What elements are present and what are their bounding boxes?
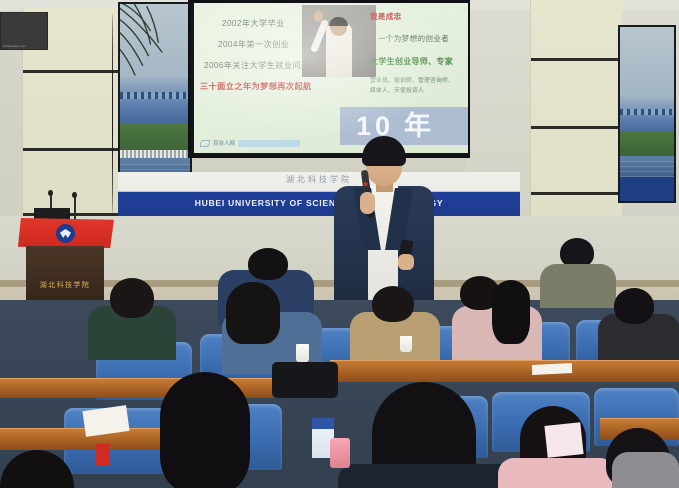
red-booklet <box>96 444 110 466</box>
paper-cup <box>400 336 412 352</box>
notebook-page <box>532 363 572 375</box>
presentation-slide: 2002年大学毕业 2004年第一次创业 2006年关注大学生就业问题 三十面立… <box>194 3 468 153</box>
studded-handbag <box>272 362 338 398</box>
audience-desk <box>330 360 679 382</box>
venue-banner: 湖北科技学院 HUBEI UNIVERSITY OF SCIENCE AND T… <box>118 172 520 216</box>
campus-poster-right <box>618 25 676 203</box>
audience-head <box>0 450 74 488</box>
audience-head <box>226 282 280 344</box>
audience-head <box>110 278 154 318</box>
audience-head <box>160 372 250 488</box>
projection-screen: 2002年大学毕业 2004年第一次创业 2006年关注大学生就业问题 三十面立… <box>188 0 470 158</box>
university-crest-icon <box>56 224 75 243</box>
podium-text: 湖北科技学院 <box>26 280 104 290</box>
audience-body <box>540 264 616 308</box>
palm-frond-overlay <box>118 2 191 122</box>
paper-cup <box>296 344 309 362</box>
audience-head <box>492 280 530 344</box>
audience-head <box>614 288 654 324</box>
audience-head <box>372 286 414 322</box>
audience-area <box>0 300 679 488</box>
speaker-box-label: loudspeaker-icon <box>3 44 26 48</box>
cable <box>112 14 113 214</box>
audience-head <box>248 248 288 280</box>
audience-body <box>338 464 514 488</box>
venue-banner-english: HUBEI UNIVERSITY OF SCIENCE AND TECHNOLO… <box>118 198 520 208</box>
loudspeaker-icon: loudspeaker-icon <box>0 12 48 50</box>
venue-banner-chinese: 湖北科技学院 <box>118 174 520 185</box>
microphone-icon <box>74 196 76 220</box>
lecture-hall-photo: loudspeaker-icon 2002年大学毕业 2004年第一 <box>0 0 679 488</box>
audience-body <box>498 458 616 488</box>
notebook-page <box>544 422 583 458</box>
pink-thermos <box>330 438 350 468</box>
audience-body <box>612 452 679 488</box>
